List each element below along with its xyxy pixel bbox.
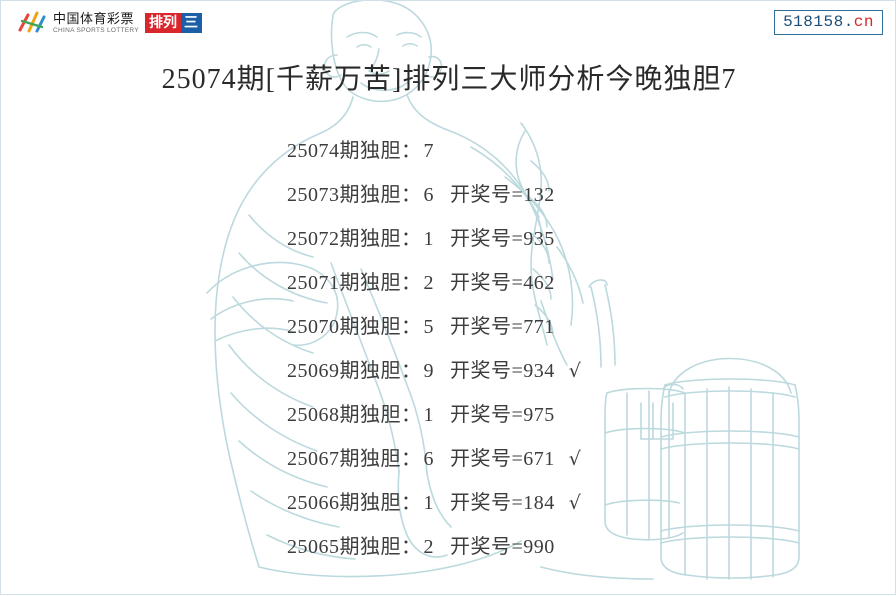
- row-dan: 9: [424, 349, 435, 393]
- row-draw: 开奖号=462: [450, 261, 555, 305]
- row-draw: 开奖号=975: [450, 393, 555, 437]
- page-title: 25074期[千薪万苦]排列三大师分析今晚独胆7: [1, 63, 896, 97]
- list-item: 25074期独胆： 7: [1, 129, 896, 173]
- list-item: 25073期独胆： 6 开奖号=132: [1, 173, 896, 217]
- row-dan: 5: [424, 305, 435, 349]
- row-hit-check-icon: √: [569, 481, 581, 525]
- game-badge-red: 排列: [145, 13, 181, 33]
- row-period: 25071期独胆：: [287, 261, 422, 305]
- logo-title-en: CHINA SPORTS LOTTERY: [53, 26, 139, 35]
- row-dan: 6: [424, 173, 435, 217]
- list-item: 25071期独胆： 2 开奖号=462: [1, 261, 896, 305]
- row-draw: 开奖号=990: [450, 525, 555, 569]
- row-draw: 开奖号=671: [450, 437, 555, 481]
- site-watermark-main: 518158.: [783, 13, 854, 31]
- site-watermark: 518158.cn: [774, 10, 883, 35]
- list-item: 25068期独胆： 1 开奖号=975: [1, 393, 896, 437]
- row-period: 25068期独胆：: [287, 393, 422, 437]
- list-item: 25072期独胆： 1 开奖号=935: [1, 217, 896, 261]
- row-hit-check-icon: √: [569, 437, 581, 481]
- row-period: 25070期独胆：: [287, 305, 422, 349]
- list-item: 25065期独胆： 2 开奖号=990: [1, 525, 896, 569]
- row-dan: 2: [424, 525, 435, 569]
- list-item: 25066期独胆： 1 开奖号=184 √: [1, 481, 896, 525]
- row-period: 25073期独胆：: [287, 173, 422, 217]
- row-period: 25067期独胆：: [287, 437, 422, 481]
- site-watermark-suffix: cn: [854, 13, 874, 31]
- site-logo: 中国体育彩票 CHINA SPORTS LOTTERY 排列三: [17, 8, 202, 38]
- row-draw: 开奖号=132: [450, 173, 555, 217]
- row-dan: 1: [424, 393, 435, 437]
- row-dan: 1: [424, 217, 435, 261]
- row-dan: 1: [424, 481, 435, 525]
- logo-title-cn: 中国体育彩票: [53, 11, 139, 26]
- logo-text-block: 中国体育彩票 CHINA SPORTS LOTTERY: [53, 8, 139, 38]
- lottery-logo-icon: [17, 8, 47, 38]
- row-draw: 开奖号=934: [450, 349, 555, 393]
- page-root: 中国体育彩票 CHINA SPORTS LOTTERY 排列三 518158.c…: [0, 0, 896, 595]
- list-item: 25070期独胆： 5 开奖号=771: [1, 305, 896, 349]
- row-period: 25069期独胆：: [287, 349, 422, 393]
- row-draw: 开奖号=935: [450, 217, 555, 261]
- page-header: 中国体育彩票 CHINA SPORTS LOTTERY 排列三 518158.c…: [1, 1, 896, 45]
- row-period: 25072期独胆：: [287, 217, 422, 261]
- row-dan: 6: [424, 437, 435, 481]
- row-dan: 2: [424, 261, 435, 305]
- prediction-list: 25074期独胆： 7 25073期独胆： 6 开奖号=132 25072期独胆…: [1, 129, 896, 569]
- row-dan: 7: [424, 129, 435, 173]
- row-period: 25066期独胆：: [287, 481, 422, 525]
- list-item: 25069期独胆： 9 开奖号=934 √: [1, 349, 896, 393]
- game-badge-blue: 三: [181, 13, 202, 33]
- row-hit-check-icon: √: [569, 349, 581, 393]
- game-badge: 排列三: [145, 12, 202, 34]
- row-period: 25074期独胆：: [287, 129, 422, 173]
- row-period: 25065期独胆：: [287, 525, 422, 569]
- row-draw: 开奖号=184: [450, 481, 555, 525]
- row-draw: 开奖号=771: [450, 305, 555, 349]
- list-item: 25067期独胆： 6 开奖号=671 √: [1, 437, 896, 481]
